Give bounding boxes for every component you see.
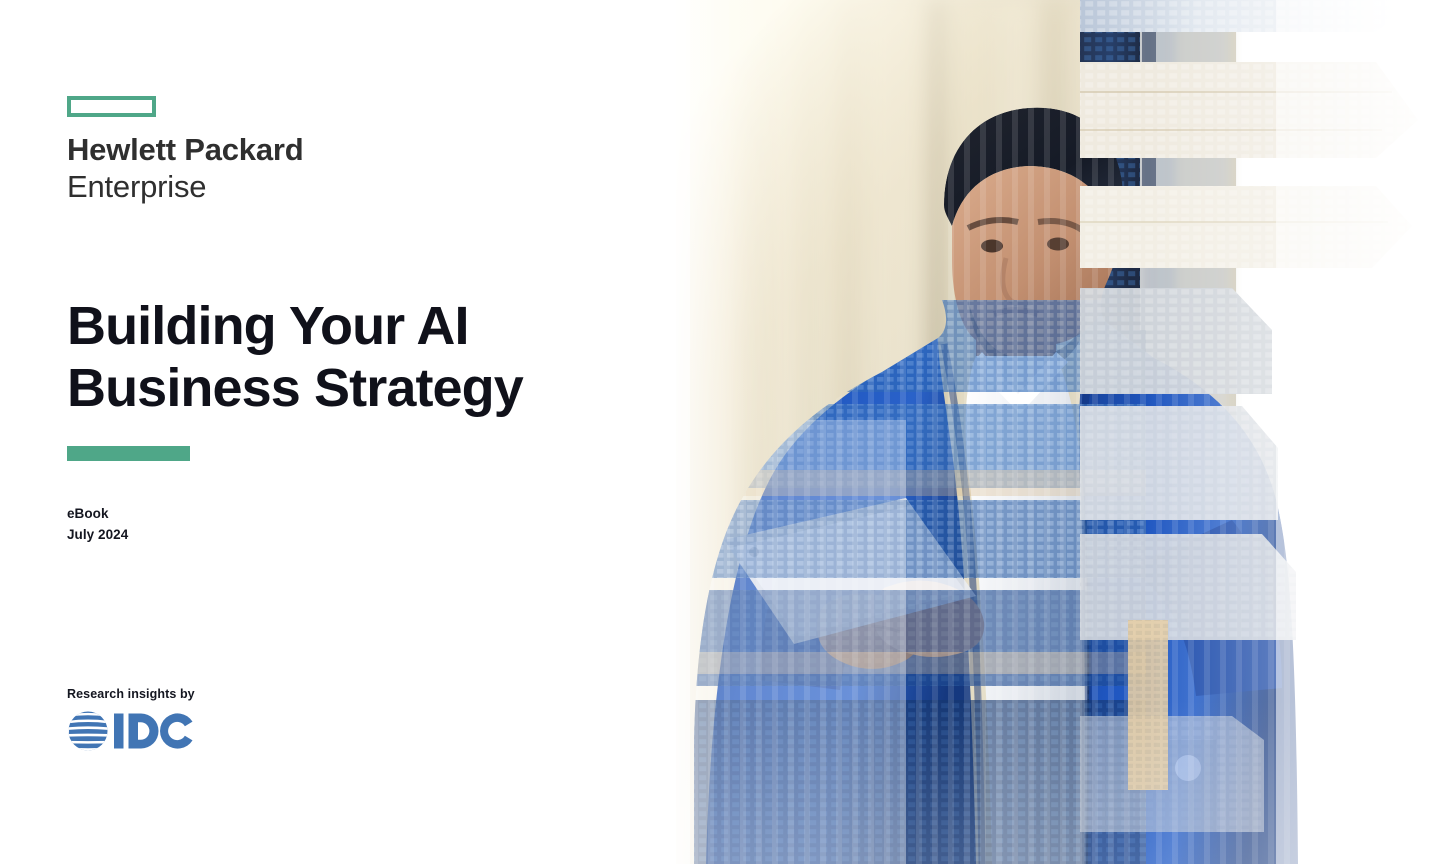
artwork-left-seam xyxy=(676,0,690,864)
accent-rule xyxy=(67,446,190,461)
page-title-line1: Building Your AI xyxy=(67,296,627,358)
research-credit-label: Research insights by xyxy=(67,687,195,701)
idc-globe-icon xyxy=(67,710,195,752)
document-type: eBook xyxy=(67,504,128,525)
artwork-right-white-wash xyxy=(1276,0,1431,864)
hpe-logo: Hewlett Packard Enterprise xyxy=(67,96,367,205)
page-title-line2: Business Strategy xyxy=(67,358,627,420)
document-meta: eBook July 2024 xyxy=(67,504,128,546)
double-exposure-composite-image xyxy=(676,0,1431,864)
research-credit: Research insights by xyxy=(67,687,195,752)
cover-artwork xyxy=(676,0,1431,864)
title-block: Building Your AI Business Strategy xyxy=(67,296,627,461)
hpe-rectangle-icon xyxy=(67,96,156,117)
cover-text-column: Hewlett Packard Enterprise Building Your… xyxy=(0,0,676,864)
idc-logo xyxy=(67,710,195,752)
hpe-wordmark: Hewlett Packard Enterprise xyxy=(67,132,367,205)
page-title: Building Your AI Business Strategy xyxy=(67,296,627,419)
ebook-cover-page: Hewlett Packard Enterprise Building Your… xyxy=(0,0,1431,864)
document-date: July 2024 xyxy=(67,525,128,546)
hpe-wordmark-line2: Enterprise xyxy=(67,169,367,206)
hpe-wordmark-line1: Hewlett Packard xyxy=(67,132,367,169)
